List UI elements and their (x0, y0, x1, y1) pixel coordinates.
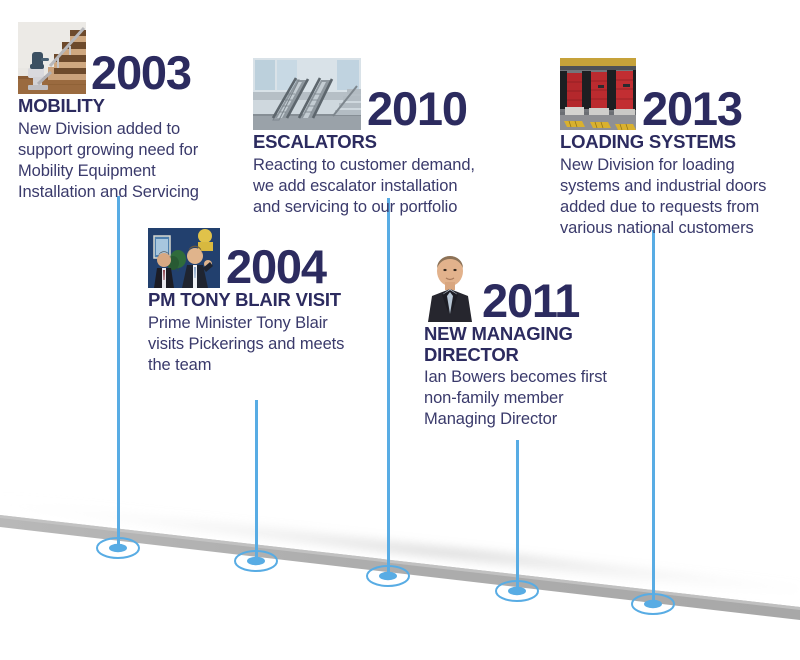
event-header: 2011 (424, 248, 639, 322)
timeline-event-2013[interactable]: 2013 LOADING SYSTEMS New Division for lo… (560, 58, 796, 239)
event-title: MOBILITY (18, 96, 243, 117)
event-description: Reacting to customer demand, we add esca… (253, 155, 503, 218)
timeline-event-2003[interactable]: 2003 MOBILITY New Division added to supp… (18, 22, 243, 203)
timeline-event-2011[interactable]: 2011 NEW MANAGING DIRECTOR Ian Bowers be… (424, 248, 639, 430)
event-title: PM TONY BLAIR VISIT (148, 290, 380, 311)
stem-2004 (255, 400, 258, 560)
event-title: ESCALATORS (253, 132, 503, 153)
event-header: 2003 (18, 22, 243, 94)
event-description: Prime Minister Tony Blair visits Pickeri… (148, 313, 380, 376)
stem-2013 (652, 230, 655, 604)
road-shadow (0, 496, 800, 600)
timeline-event-2004[interactable]: 2004 PM TONY BLAIR VISIT Prime Minister … (148, 228, 380, 376)
event-description: New Division for loading systems and ind… (560, 155, 796, 239)
timeline-infographic: 2003 MOBILITY New Division added to supp… (0, 0, 800, 660)
road-top-edge (0, 515, 800, 610)
escalators-photo (253, 58, 361, 130)
event-header: 2004 (148, 228, 380, 288)
stem-2003 (117, 196, 120, 548)
timeline-event-2010[interactable]: 2010 ESCALATORS Reacting to customer dem… (253, 58, 503, 218)
event-title: NEW MANAGING DIRECTOR (424, 324, 639, 365)
event-year: 2011 (482, 279, 579, 322)
stem-2010 (387, 198, 390, 576)
managing-director-portrait-photo (424, 248, 476, 322)
event-header: 2010 (253, 58, 503, 130)
event-description: New Division added to support growing ne… (18, 119, 243, 203)
loading-dock-doors-photo (560, 58, 636, 130)
event-year: 2013 (642, 87, 742, 130)
event-description: Ian Bowers becomes first non-family memb… (424, 367, 639, 430)
event-header: 2013 (560, 58, 796, 130)
stairlift-photo (18, 22, 86, 94)
event-year: 2010 (367, 87, 467, 130)
event-year: 2003 (91, 51, 191, 94)
event-year: 2004 (226, 245, 326, 288)
road-surface (0, 515, 800, 620)
tony-blair-visit-photo (148, 228, 220, 288)
stem-2011 (516, 440, 519, 591)
event-title: LOADING SYSTEMS (560, 132, 796, 153)
